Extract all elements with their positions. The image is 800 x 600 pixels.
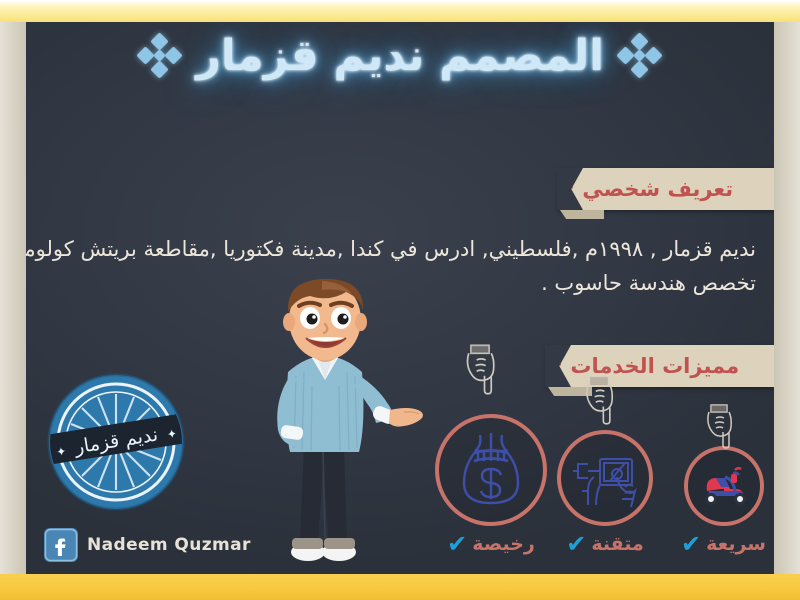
service-caption: رخيصة ✔: [447, 532, 535, 556]
poster-title: المصمم نديم قزمار: [26, 32, 774, 80]
check-icon: ✔: [681, 532, 701, 556]
check-icon: ✔: [447, 532, 467, 556]
service-icon-ring: [435, 414, 547, 526]
service-item[interactable]: متقنة ✔: [557, 430, 653, 556]
service-caption: سريعة ✔: [681, 532, 766, 556]
board-background: المصمم نديم قزمار تعريف شخصي :- نديم قزم…: [26, 20, 774, 576]
poster-canvas: المصمم نديم قزمار تعريف شخصي :- نديم قزم…: [0, 0, 800, 600]
service-icon-ring: [684, 446, 764, 526]
service-label: متقنة: [591, 533, 643, 555]
ribbon-tail: [560, 210, 604, 219]
money-bag-icon: [450, 429, 532, 511]
facebook-icon[interactable]: [44, 528, 78, 562]
intro-ribbon-label: تعريف شخصي :-: [558, 177, 733, 201]
touchscreen-icon: [570, 447, 640, 509]
pointing-hand-icon: [457, 342, 503, 396]
intro-line-1: نديم قزمار , ١٩٩٨م ,فلسطيني, ادرس في كند…: [136, 232, 756, 266]
check-icon: ✔: [566, 532, 586, 556]
cartoon-man-illustration: [226, 276, 426, 576]
pointing-hand-icon: [577, 374, 621, 426]
pointing-hand-icon: [699, 402, 739, 450]
frame-right-rail: [774, 0, 800, 600]
title-text: المصمم نديم قزمار: [196, 32, 604, 80]
brand-stamp-logo: نديم قزمار ✦ ✦: [42, 368, 190, 516]
facebook-name: Nadeem Quzmar: [87, 535, 251, 555]
diamond-ornament-icon: [138, 34, 182, 78]
service-icon-ring: [557, 430, 653, 526]
frame-bottom-rail: [0, 574, 800, 600]
facebook-credit[interactable]: Nadeem Quzmar: [44, 528, 251, 562]
service-label: رخيصة: [472, 533, 535, 555]
intro-section-ribbon: تعريف شخصي :-: [558, 168, 774, 210]
frame-top-rail: [0, 0, 800, 22]
services-icon-group: سريعة ✔: [416, 326, 766, 556]
service-item[interactable]: سريعة ✔: [681, 446, 766, 556]
diamond-ornament-icon: [618, 34, 662, 78]
service-caption: متقنة ✔: [566, 532, 644, 556]
scooter-icon: [697, 465, 751, 507]
service-label: سريعة: [706, 533, 766, 555]
frame-left-rail: [0, 0, 26, 600]
service-item[interactable]: رخيصة ✔: [435, 414, 547, 556]
